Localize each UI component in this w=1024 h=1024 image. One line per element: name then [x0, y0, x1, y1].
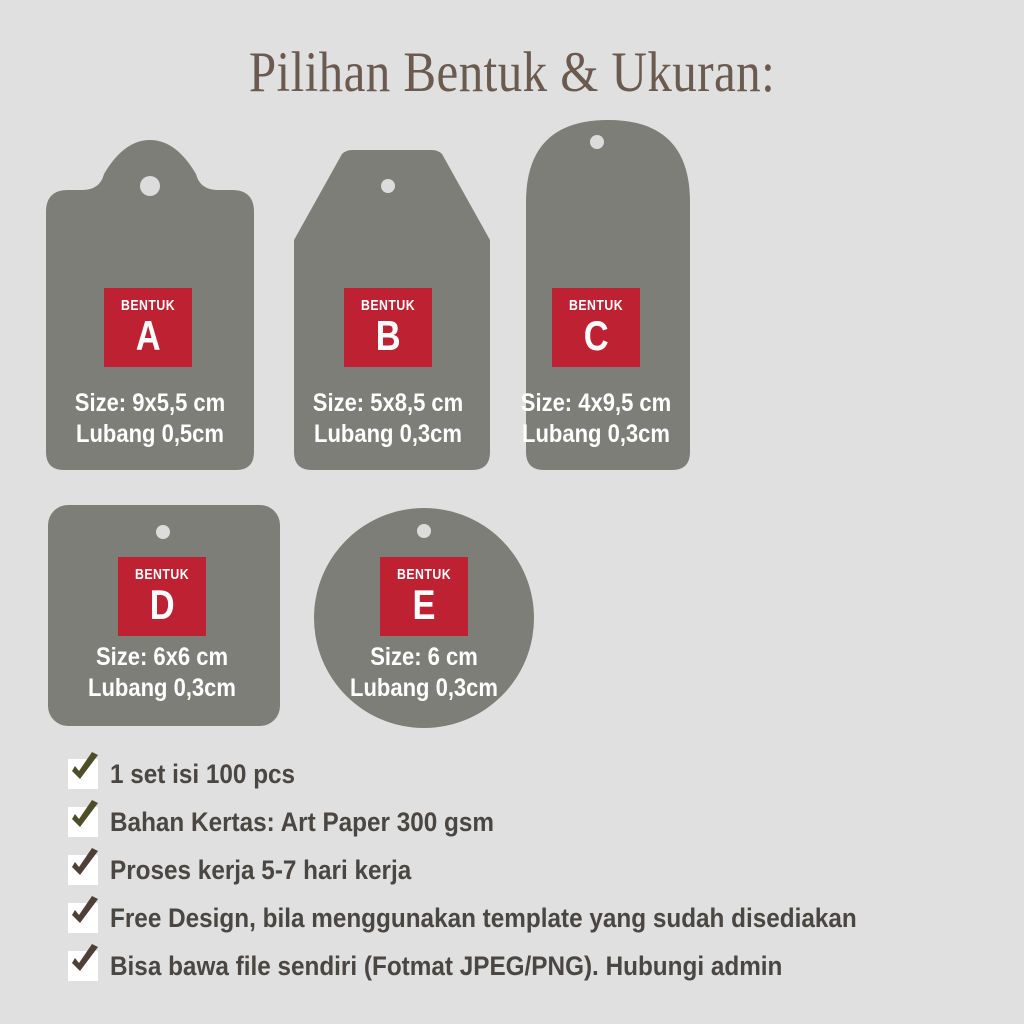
feature-list: 1 set isi 100 pcs Bahan Kertas: Art Pape…	[68, 750, 998, 990]
feature-item-2: Bahan Kertas: Art Paper 300 gsm	[68, 798, 998, 846]
feature-label-5: Bisa bawa file sendiri (Fotmat JPEG/PNG)…	[110, 951, 782, 981]
tag-size-e: Size: 6 cm	[332, 642, 515, 673]
tag-caption-c: Size: 4x9,5 cm Lubang 0,3cm	[504, 388, 687, 450]
feature-label-2: Bahan Kertas: Art Paper 300 gsm	[110, 807, 494, 837]
tag-caption-a: Size: 9x5,5 cm Lubang 0,5cm	[58, 388, 241, 450]
tag-hole-a: Lubang 0,5cm	[58, 419, 241, 450]
punch-hole-icon-b	[381, 179, 395, 193]
badge-e: BENTUK E	[380, 557, 468, 636]
tag-size-b: Size: 5x8,5 cm	[296, 388, 479, 419]
badge-c: BENTUK C	[552, 288, 640, 367]
feature-item-1: 1 set isi 100 pcs	[68, 750, 998, 798]
punch-hole-icon-c	[590, 135, 604, 149]
tag-size-a: Size: 9x5,5 cm	[58, 388, 241, 419]
feature-label-4: Free Design, bila menggunakan template y…	[110, 903, 857, 933]
badge-letter-e: E	[413, 584, 436, 626]
punch-hole-icon-d	[156, 525, 170, 539]
punch-hole-icon-a	[140, 176, 160, 196]
page-title: Pilihan Bentuk & Ukuran:	[72, 42, 953, 104]
badge-letter-d: D	[150, 584, 175, 626]
poster-canvas: Pilihan Bentuk & Ukuran: BENT	[0, 0, 1024, 1024]
badge-a: BENTUK A	[104, 288, 192, 367]
check-icon	[68, 855, 98, 885]
check-icon	[68, 951, 98, 981]
check-icon	[68, 759, 98, 789]
feature-label-1: 1 set isi 100 pcs	[110, 759, 295, 789]
tag-caption-d: Size: 6x6 cm Lubang 0,3cm	[70, 642, 253, 704]
tag-hole-b: Lubang 0,3cm	[296, 419, 479, 450]
badge-letter-a: A	[136, 315, 161, 357]
tag-hole-d: Lubang 0,3cm	[70, 673, 253, 704]
badge-letter-c: C	[584, 315, 609, 357]
badge-d: BENTUK D	[118, 557, 206, 636]
punch-hole-icon-e	[417, 524, 431, 538]
feature-item-5: Bisa bawa file sendiri (Fotmat JPEG/PNG)…	[68, 942, 998, 990]
check-icon	[68, 807, 98, 837]
tag-caption-b: Size: 5x8,5 cm Lubang 0,3cm	[296, 388, 479, 450]
tag-hole-c: Lubang 0,3cm	[504, 419, 687, 450]
tag-size-d: Size: 6x6 cm	[70, 642, 253, 673]
tag-hole-e: Lubang 0,3cm	[332, 673, 515, 704]
feature-label-3: Proses kerja 5-7 hari kerja	[110, 855, 411, 885]
check-icon	[68, 903, 98, 933]
tag-size-c: Size: 4x9,5 cm	[504, 388, 687, 419]
tag-caption-e: Size: 6 cm Lubang 0,3cm	[332, 642, 515, 704]
badge-letter-b: B	[376, 315, 401, 357]
feature-item-3: Proses kerja 5-7 hari kerja	[68, 846, 998, 894]
feature-item-4: Free Design, bila menggunakan template y…	[68, 894, 998, 942]
badge-b: BENTUK B	[344, 288, 432, 367]
